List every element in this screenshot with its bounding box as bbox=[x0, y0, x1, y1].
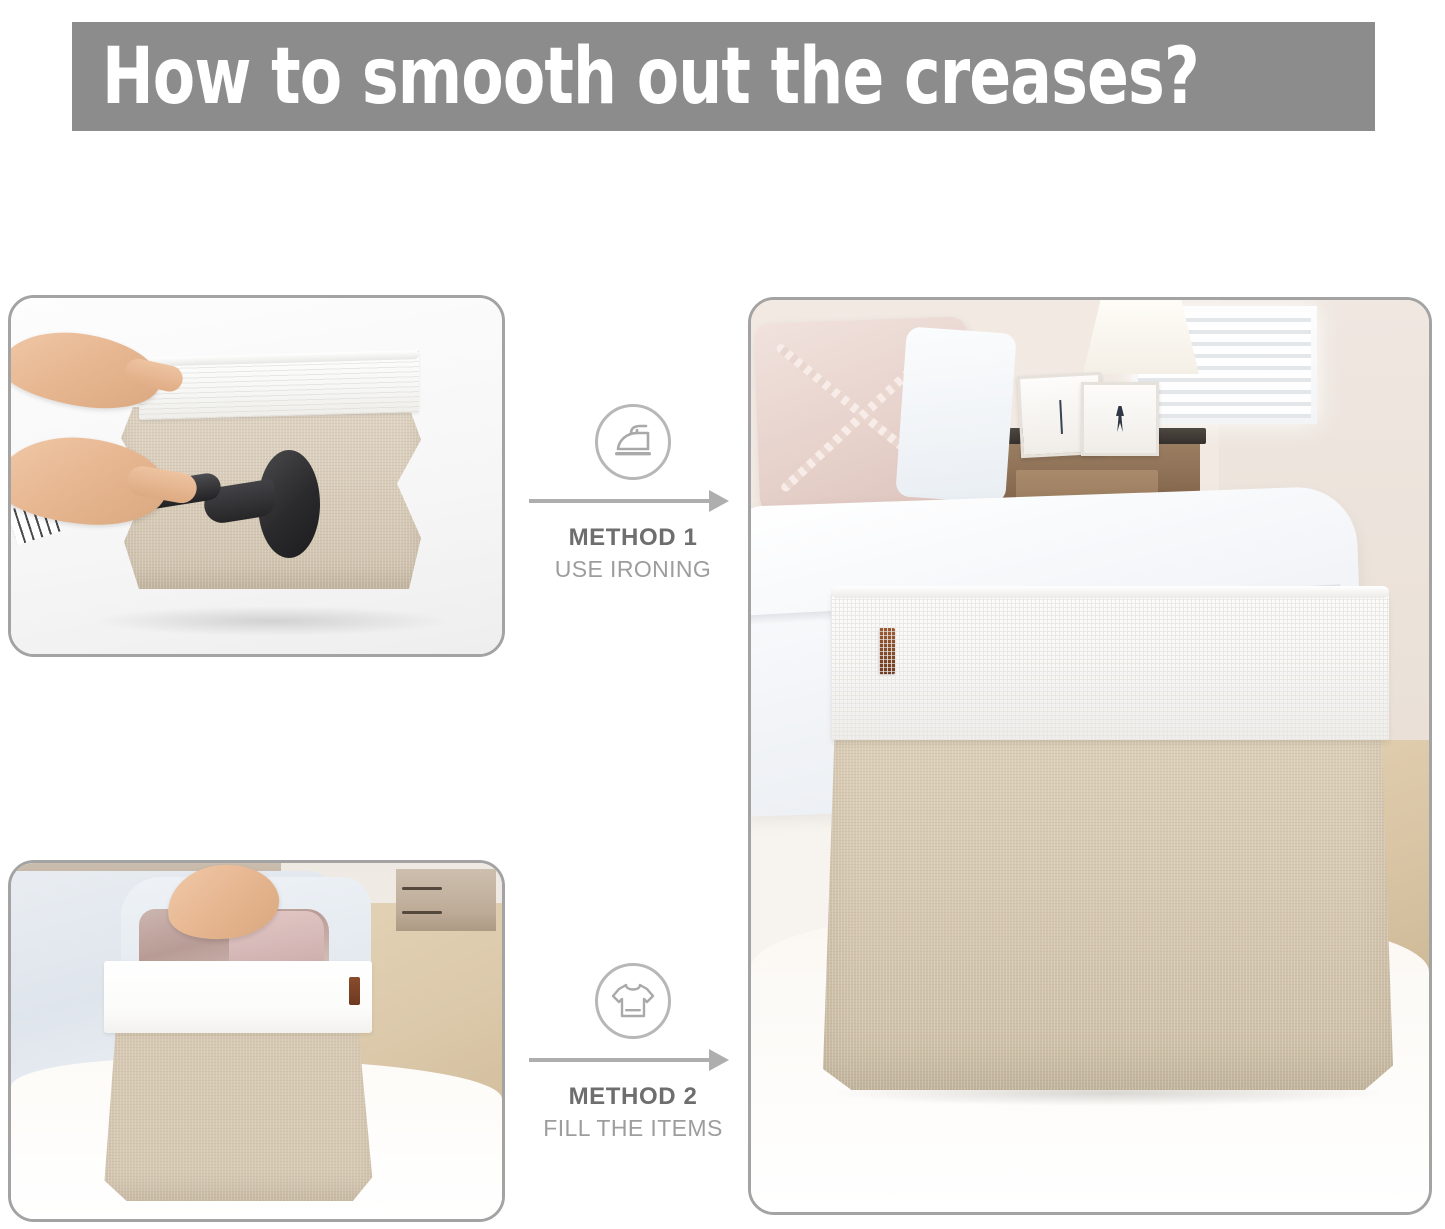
arrow-line bbox=[529, 499, 713, 503]
basket-shadow bbox=[91, 606, 451, 636]
method-1-sublabel: USE IRONING bbox=[527, 556, 739, 583]
steaming-basket-photo bbox=[11, 298, 502, 654]
storage-basket bbox=[823, 590, 1393, 1090]
leather-tag bbox=[879, 628, 895, 674]
arrow-head-icon bbox=[709, 1049, 729, 1071]
method-2-block: METHOD 2 FILL THE ITEMS bbox=[527, 963, 739, 1142]
panel-steaming-basket bbox=[8, 295, 505, 657]
method-1-block: METHOD 1 USE IRONING bbox=[527, 404, 739, 583]
basket-rim bbox=[831, 586, 1389, 598]
frame-artwork bbox=[1113, 406, 1127, 432]
basket-linen-body bbox=[823, 740, 1393, 1090]
arrow-head-icon bbox=[709, 490, 729, 512]
filling-basket-photo bbox=[11, 863, 502, 1219]
dresser-handle bbox=[402, 887, 442, 890]
white-pillow bbox=[895, 326, 1017, 503]
arrow-line bbox=[529, 1058, 713, 1062]
basket-white-band bbox=[831, 590, 1389, 740]
dresser-handle bbox=[402, 911, 442, 914]
basket-white-band bbox=[104, 961, 372, 1033]
page-title: How to smooth out the creases? bbox=[102, 38, 1199, 116]
panel-finished-basket bbox=[748, 297, 1432, 1215]
iron-icon bbox=[595, 404, 671, 480]
basket-linen-body bbox=[99, 1031, 375, 1201]
picture-frame bbox=[1081, 382, 1159, 456]
table-lamp bbox=[1083, 297, 1199, 374]
method-1-arrow bbox=[527, 490, 739, 512]
title-banner: How to smooth out the creases? bbox=[72, 22, 1375, 131]
handheld-steamer bbox=[135, 450, 320, 560]
tshirt-icon bbox=[595, 963, 671, 1039]
panel-filling-basket bbox=[8, 860, 505, 1222]
method-2-label: METHOD 2 bbox=[527, 1083, 739, 1111]
finished-basket-photo bbox=[751, 300, 1429, 1212]
method-2-sublabel: FILL THE ITEMS bbox=[527, 1115, 739, 1142]
method-1-label: METHOD 1 bbox=[527, 524, 739, 552]
method-2-arrow bbox=[527, 1049, 739, 1071]
leather-tag bbox=[349, 977, 360, 1005]
wood-dresser bbox=[396, 869, 496, 931]
storage-basket bbox=[99, 961, 374, 1201]
frame-artwork bbox=[1059, 399, 1063, 433]
